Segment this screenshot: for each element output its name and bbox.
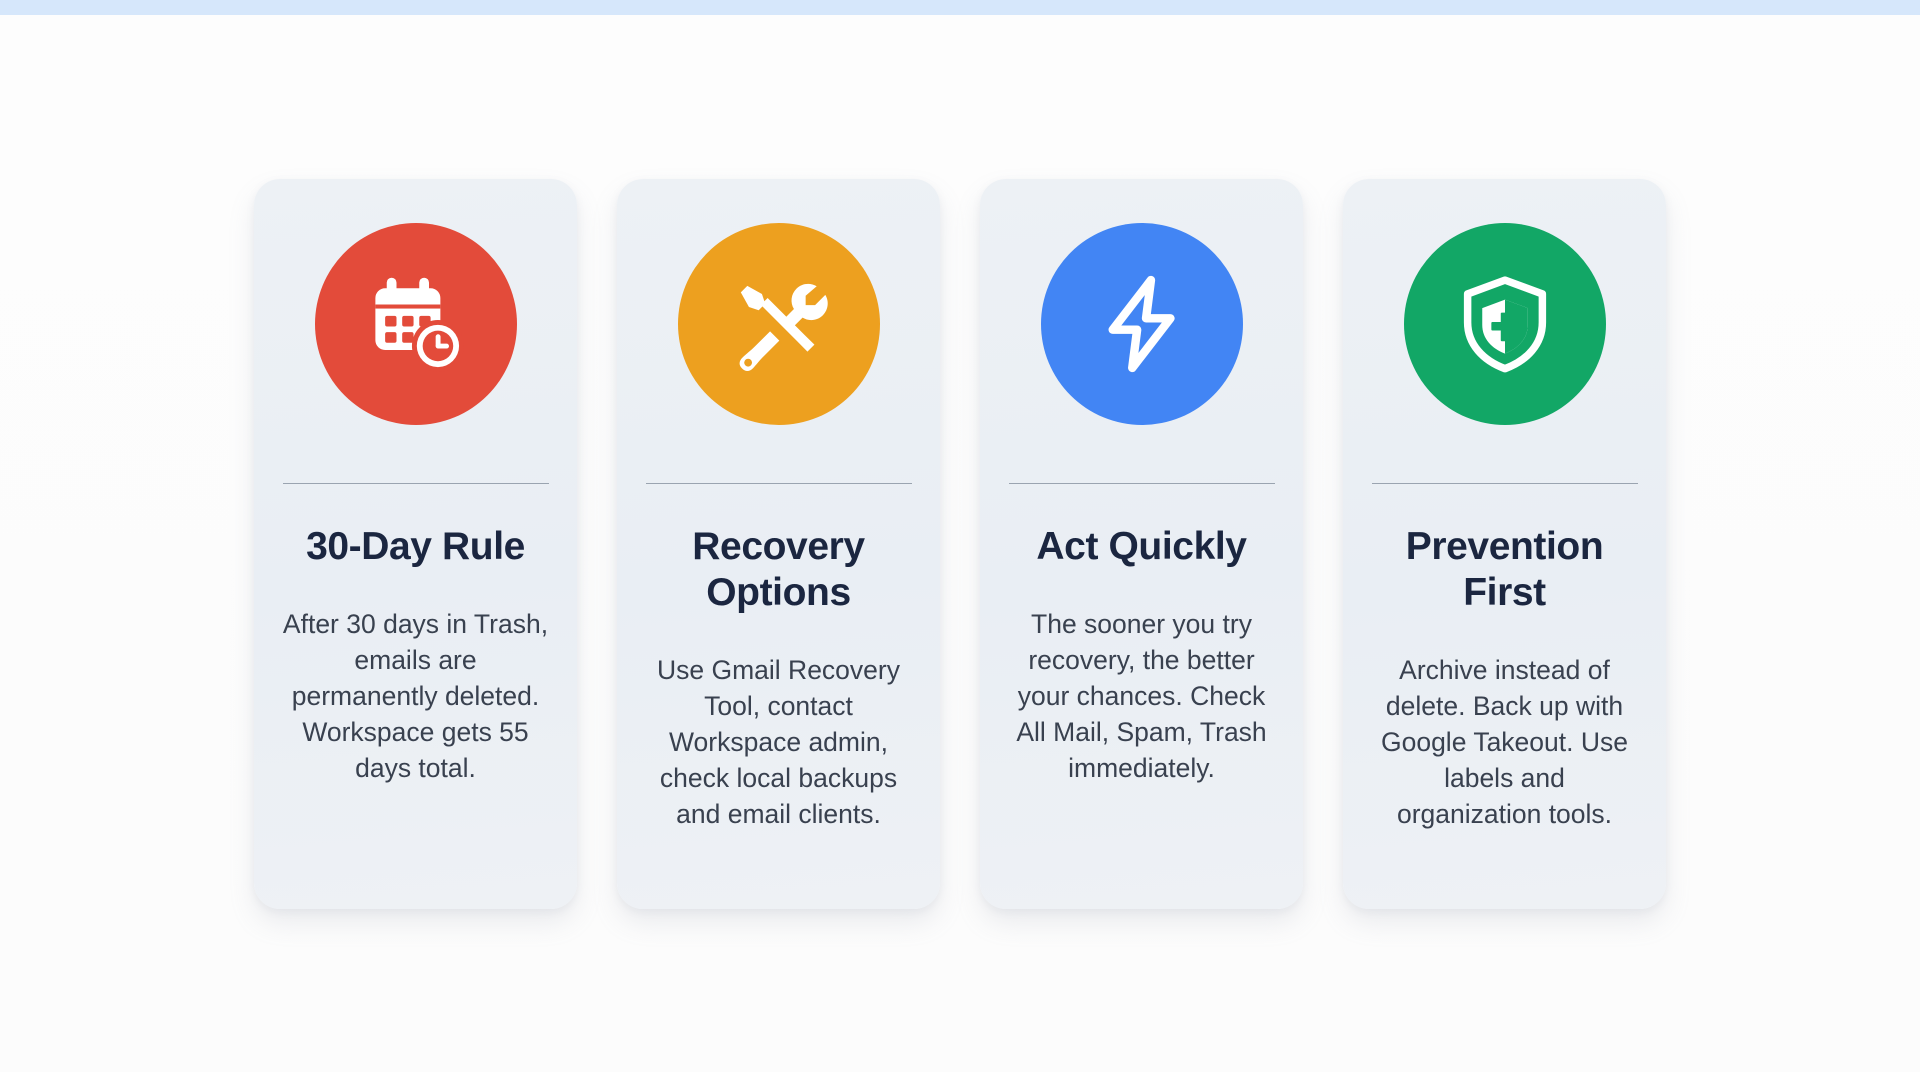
calendar-clock-icon xyxy=(364,272,468,376)
card-body: After 30 days in Trash, emails are perma… xyxy=(282,606,549,786)
top-accent-band xyxy=(0,0,1920,15)
icon-badge xyxy=(315,223,517,425)
card-divider xyxy=(646,483,912,484)
info-card-prevention-first[interactable]: Prevention First Archive instead of dele… xyxy=(1343,179,1666,909)
card-body: Archive instead of delete. Back up with … xyxy=(1371,652,1638,832)
card-row: 30-Day Rule After 30 days in Trash, emai… xyxy=(254,179,1666,909)
card-body: The sooner you try recovery, the better … xyxy=(1008,606,1275,786)
shield-icon xyxy=(1453,272,1557,376)
card-divider xyxy=(1009,483,1275,484)
info-card-30-day-rule[interactable]: 30-Day Rule After 30 days in Trash, emai… xyxy=(254,179,577,909)
info-card-act-quickly[interactable]: Act Quickly The sooner you try recovery,… xyxy=(980,179,1303,909)
card-body: Use Gmail Recovery Tool, contact Workspa… xyxy=(645,652,912,832)
card-title: 30-Day Rule xyxy=(306,524,525,570)
card-title: Prevention First xyxy=(1371,524,1638,617)
cards-stage: 30-Day Rule After 30 days in Trash, emai… xyxy=(0,15,1920,1072)
tools-icon xyxy=(727,272,831,376)
icon-badge xyxy=(1041,223,1243,425)
card-title: Recovery Options xyxy=(645,524,912,617)
lightning-bolt-icon xyxy=(1090,272,1194,376)
card-divider xyxy=(283,483,549,484)
info-card-recovery-options[interactable]: Recovery Options Use Gmail Recovery Tool… xyxy=(617,179,940,909)
card-title: Act Quickly xyxy=(1036,524,1246,570)
card-divider xyxy=(1372,483,1638,484)
icon-badge xyxy=(678,223,880,425)
icon-badge xyxy=(1404,223,1606,425)
